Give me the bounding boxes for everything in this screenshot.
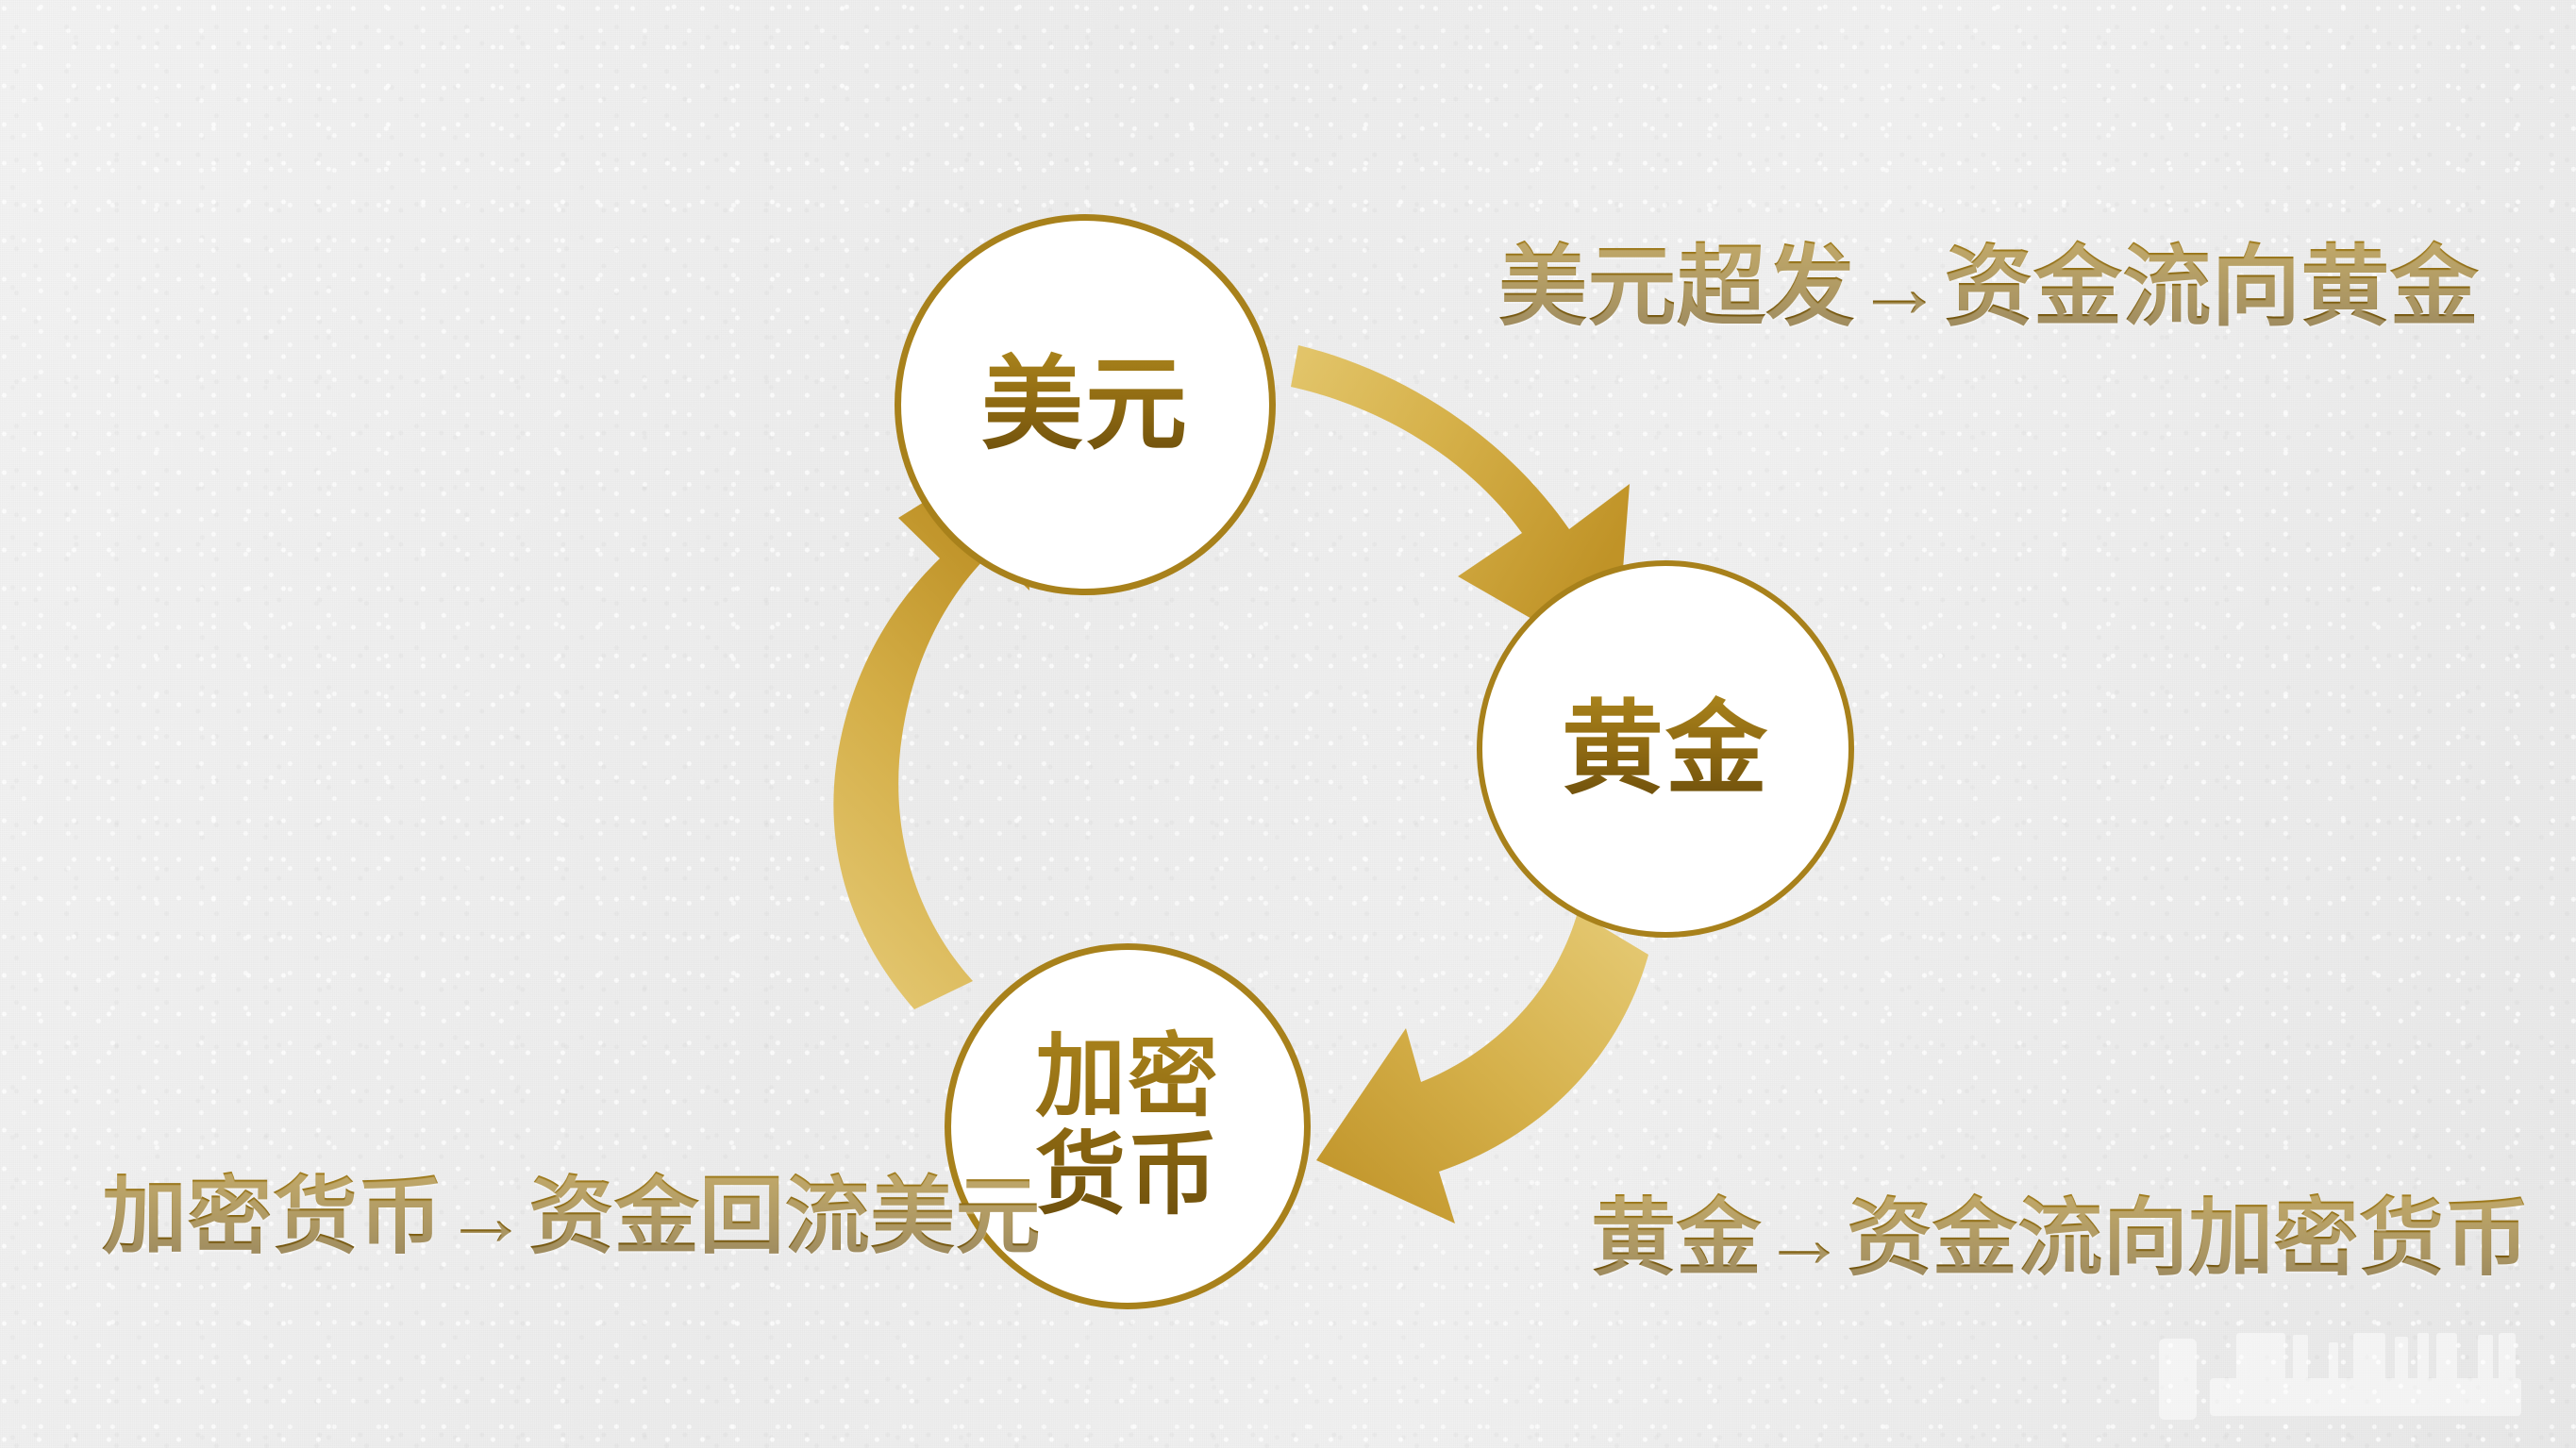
edge-label-crypto-to-usd: 加密货币→资金回流美元 — [102, 1147, 1041, 1270]
edge-label-gold-to-crypto: 黄金→资金流向加密货币 — [1591, 1169, 2530, 1291]
node-usd[interactable]: 美元 — [895, 214, 1276, 595]
edge-label-usd-to-gold: 美元超发→资金流向黄金 — [1498, 215, 2479, 343]
node-gold[interactable]: 黄金 — [1477, 560, 1854, 938]
diagram-canvas: 美元 黄金 加密 货币 美元超发→资金流向黄金 黄金→资金流向加密货币 加密货币… — [0, 0, 2576, 1448]
node-crypto-label: 加密 货币 — [1035, 1028, 1220, 1223]
node-usd-label: 美元 — [981, 350, 1189, 460]
node-gold-label: 黄金 — [1562, 694, 1769, 805]
